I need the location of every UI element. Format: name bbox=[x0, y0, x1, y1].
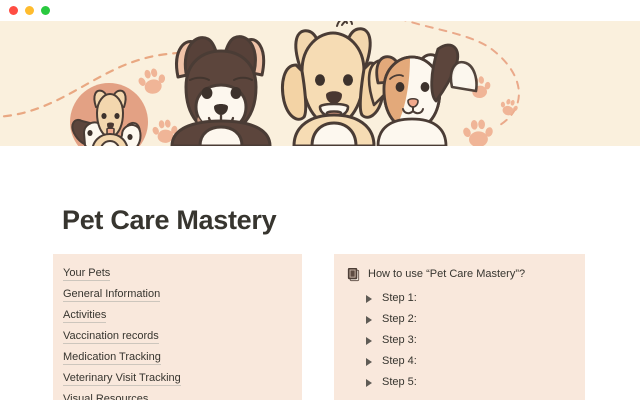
link-label: Your Pets bbox=[63, 267, 110, 281]
chevron-right-icon[interactable] bbox=[366, 379, 372, 387]
notebook-icon bbox=[346, 267, 361, 282]
steps-toggle-list: Step 1: Step 2: Step 3: Step 4: bbox=[344, 292, 575, 397]
toggle-step-3[interactable]: Step 3: bbox=[366, 334, 575, 355]
chevron-right-icon[interactable] bbox=[366, 316, 372, 324]
chevron-right-icon[interactable] bbox=[366, 358, 372, 366]
link-label: Visual Resources bbox=[63, 393, 148, 400]
toggle-step-5[interactable]: Step 5: bbox=[366, 376, 575, 397]
link-your-pets[interactable]: Your Pets bbox=[63, 267, 288, 288]
minimize-button[interactable] bbox=[25, 6, 34, 15]
page-title: Pet Care Mastery bbox=[62, 205, 276, 236]
link-label: Veterinary Visit Tracking bbox=[63, 372, 181, 386]
step-label: Step 2: bbox=[382, 313, 417, 326]
link-label: Activities bbox=[63, 309, 106, 323]
app-window: Pet Care Mastery Your Pets General Infor… bbox=[0, 0, 640, 400]
toggle-step-2[interactable]: Step 2: bbox=[366, 313, 575, 334]
toggle-step-4[interactable]: Step 4: bbox=[366, 355, 575, 376]
how-to-use-header: How to use “Pet Care Mastery”? bbox=[344, 267, 575, 282]
step-label: Step 3: bbox=[382, 334, 417, 347]
link-general-information[interactable]: General Information bbox=[63, 288, 288, 309]
link-medication-tracking[interactable]: Medication Tracking bbox=[63, 351, 288, 372]
column-gap bbox=[302, 254, 334, 400]
link-veterinary-visit-tracking[interactable]: Veterinary Visit Tracking bbox=[63, 372, 288, 393]
close-button[interactable] bbox=[9, 6, 18, 15]
page-cover-banner bbox=[0, 21, 640, 146]
link-activities[interactable]: Activities bbox=[63, 309, 288, 330]
left-links-panel: Your Pets General Information Activities… bbox=[53, 254, 302, 400]
link-vaccination-records[interactable]: Vaccination records bbox=[63, 330, 288, 351]
toggle-step-1[interactable]: Step 1: bbox=[366, 292, 575, 313]
page-link-list: Your Pets General Information Activities… bbox=[63, 267, 288, 400]
window-titlebar bbox=[0, 0, 640, 21]
cover-illustration bbox=[0, 21, 640, 146]
chevron-right-icon[interactable] bbox=[366, 337, 372, 345]
step-label: Step 4: bbox=[382, 355, 417, 368]
how-to-use-title: How to use “Pet Care Mastery”? bbox=[368, 267, 525, 281]
link-label: Vaccination records bbox=[63, 330, 159, 344]
link-visual-resources[interactable]: Visual Resources bbox=[63, 393, 288, 400]
zoom-button[interactable] bbox=[41, 6, 50, 15]
link-label: General Information bbox=[63, 288, 160, 302]
page-body: Pet Care Mastery Your Pets General Infor… bbox=[0, 146, 640, 400]
step-label: Step 1: bbox=[382, 292, 417, 305]
step-label: Step 5: bbox=[382, 376, 417, 389]
chevron-right-icon[interactable] bbox=[366, 295, 372, 303]
link-label: Medication Tracking bbox=[63, 351, 161, 365]
content-columns: Your Pets General Information Activities… bbox=[0, 254, 640, 400]
how-to-use-panel: How to use “Pet Care Mastery”? Step 1: S… bbox=[334, 254, 585, 400]
